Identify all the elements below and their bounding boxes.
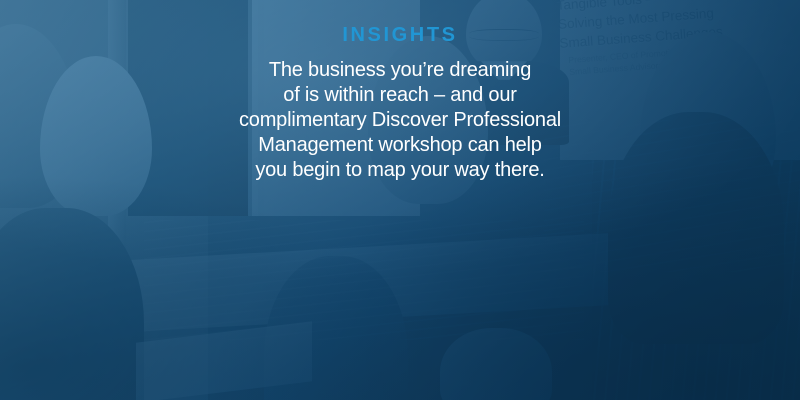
headline: The business you’re dreaming of is withi… [4, 58, 796, 183]
headline-line-1: The business you’re dreaming [4, 58, 796, 83]
insights-hero-banner: Tangible Tools – Solving the Most Pressi… [0, 0, 800, 400]
eyebrow-label: INSIGHTS [342, 25, 457, 45]
banner-content: INSIGHTS The business you’re dreaming of… [0, 0, 800, 400]
headline-line-3: complimentary Discover Professional [4, 108, 796, 133]
headline-line-2: of is within reach – and our [4, 83, 796, 108]
headline-line-5: you begin to map your way there. [4, 158, 796, 183]
headline-line-4: Management workshop can help [4, 133, 796, 158]
